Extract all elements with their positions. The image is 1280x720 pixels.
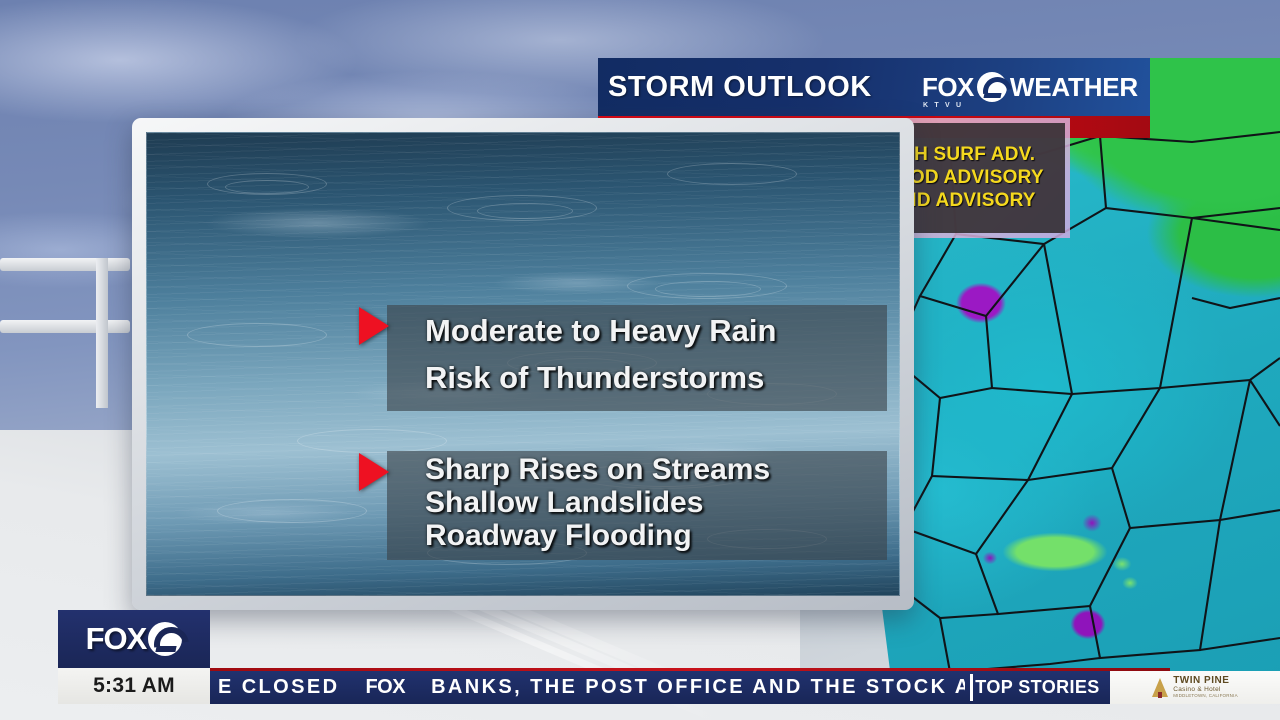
railing-bar xyxy=(0,320,130,333)
sponsor-logo[interactable]: TWIN PINE Casino & Hotel MIDDLETOWN, CAL… xyxy=(1110,671,1280,704)
bullet-line: Roadway Flooding xyxy=(425,519,861,552)
rain-ripple xyxy=(477,203,573,219)
fox-two-circle-icon xyxy=(148,622,182,656)
rain-ripple xyxy=(217,499,367,523)
storm-outlook-header: STORM OUTLOOK FOX K T V U WEATHER xyxy=(598,58,1150,116)
clock-display: 5:31 AM xyxy=(58,668,210,704)
sponsor-sub: MIDDLETOWN, CALIFORNIA xyxy=(1173,694,1238,699)
clock-time: 5:31 AM xyxy=(93,674,175,698)
red-triangle-bullet-icon xyxy=(359,453,389,491)
bullet-line: Risk of Thunderstorms xyxy=(425,354,861,401)
display-panel-frame: Moderate to Heavy Rain Risk of Thunderst… xyxy=(132,118,914,610)
ticker-segment: E CLOSED xyxy=(218,676,339,699)
bullet-text-strip: Sharp Rises on Streams Shallow Landslide… xyxy=(387,451,887,560)
fox-two-circle-icon xyxy=(977,72,1007,102)
bullet-block-rain: Moderate to Heavy Rain Risk of Thunderst… xyxy=(359,305,887,411)
railing-post xyxy=(96,258,108,408)
fox-wordmark: FOX K T V U xyxy=(922,74,974,100)
ktvu-callsign: K T V U xyxy=(923,102,963,109)
top-stories-label: TOP STORIES xyxy=(975,677,1099,698)
bullet-block-flooding: Sharp Rises on Streams Shallow Landslide… xyxy=(359,451,887,560)
bullet-line: Sharp Rises on Streams xyxy=(425,453,861,486)
rain-ripple xyxy=(297,429,447,453)
top-stories-label-box[interactable]: TOP STORIES xyxy=(965,671,1110,704)
ticker-fox-wordmark: FOX xyxy=(365,676,405,699)
red-triangle-bullet-icon xyxy=(359,307,389,345)
sponsor-text: TWIN PINE Casino & Hotel MIDDLETOWN, CAL… xyxy=(1173,676,1238,698)
weather-wordmark: WEATHER xyxy=(1010,72,1138,103)
fox-bug-wordmark: FOX xyxy=(86,621,147,657)
bullet-text-strip: Moderate to Heavy Rain Risk of Thunderst… xyxy=(387,305,887,411)
railing-bar xyxy=(0,258,130,271)
rain-ripple xyxy=(655,281,761,297)
studio-railing xyxy=(0,258,130,408)
bullet-line: Moderate to Heavy Rain xyxy=(425,307,861,354)
bullet-line: Shallow Landslides xyxy=(425,486,861,519)
news-ticker[interactable]: E CLOSED FOX BANKS, THE POST OFFICE AND … xyxy=(210,671,965,704)
ticker-segment: BANKS, THE POST OFFICE AND THE STOCK AND xyxy=(431,676,965,699)
rain-ripple xyxy=(667,163,797,185)
display-panel-screen: Moderate to Heavy Rain Risk of Thunderst… xyxy=(146,132,900,596)
pine-tree-icon xyxy=(1152,678,1168,697)
ticker-divider xyxy=(970,674,973,701)
rain-ripple xyxy=(187,323,327,347)
fox-weather-logo: FOX K T V U WEATHER xyxy=(922,72,1138,103)
rain-ripple xyxy=(225,180,309,194)
fox-wordmark-text: FOX xyxy=(922,72,974,102)
fox-2-station-bug: FOX xyxy=(58,610,210,668)
page-title: STORM OUTLOOK xyxy=(608,71,872,104)
